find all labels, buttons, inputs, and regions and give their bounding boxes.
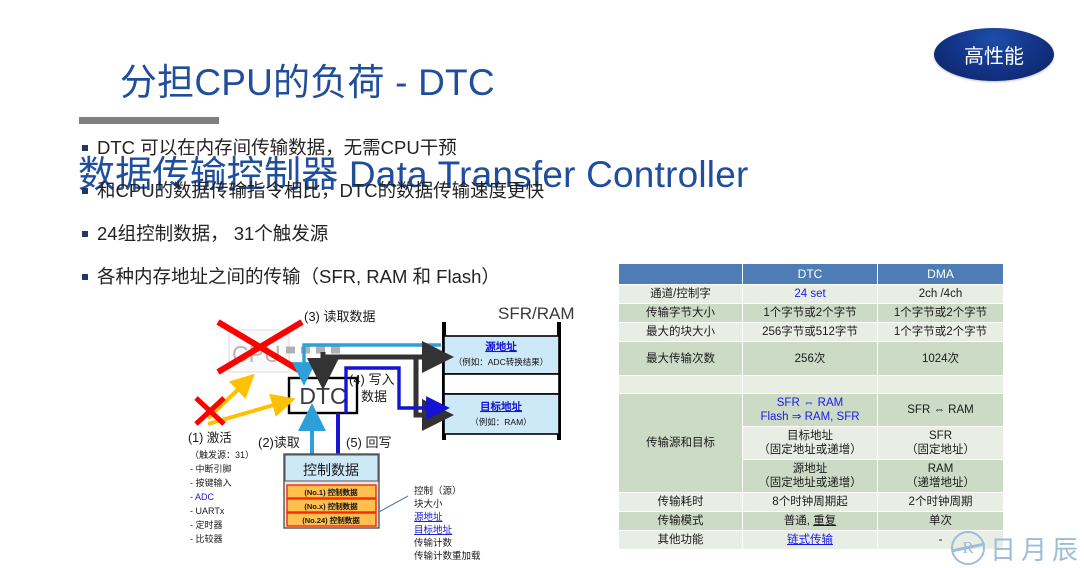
value-line-1: SFR [929,430,952,442]
control-field-item: 块大小 [414,498,443,510]
row-dma-value: 单次 [878,512,1004,531]
row-dma-value: 1个字节或2个字节 [878,323,1004,342]
row-dtc-value: SFR ⇔ RAM Flash ⇒ RAM, SFR [743,394,878,427]
row-dma-value: RAM （递增地址） [878,460,1004,493]
control-field-item: 传输计数 [414,537,453,549]
row-dtc-value: 链式传输 [743,531,878,550]
trigger-source-item: - 中断引脚 [190,463,232,474]
table-row: 通道/控制字 24 set 2ch /4ch [619,285,1004,304]
value-line-1: RAM [928,463,954,475]
control-data-row: (No.x) 控制数据 [304,501,358,511]
value-line-2: （固定地址） [906,444,975,456]
value-line-1: 目标地址 [787,430,833,442]
row-dma-value: 1024次 [878,342,1004,376]
step-4-label-line1: (4) 写入 [349,372,395,387]
row-dtc-value: 1个字节或2个字节 [743,304,878,323]
row-label [619,376,743,394]
value-line-2: （固定地址或递增） [758,444,862,456]
step-3-label: (3) 读取数据 [304,309,376,324]
row-dma-value: SFR ⇔ RAM [878,394,1004,427]
row-dtc-value: 目标地址 （固定地址或递增） [743,427,878,460]
table-header-dma: DMA [878,264,1004,285]
row-label: 传输模式 [619,512,743,531]
step-4-label-line2: 数据 [361,389,387,404]
row-dma-value: 2ch /4ch [878,285,1004,304]
sfr-ram-title: SFR/RAM [498,304,575,323]
list-item: DTC 可以在内存间传输数据，无需CPU干预 [82,136,642,159]
table-row: 传输模式 普通, 重复 单次 [619,512,1004,531]
row-dtc-value: 普通, 重复 [743,512,878,531]
row-label: 最大传输次数 [619,342,743,376]
bullet-text: 和CPU的数据传输指令相比，DTC的数据传输速度更快 [97,179,544,202]
row-label: 传输字节大小 [619,304,743,323]
table-header-blank [619,264,743,285]
repeat-mode-highlight: 重复 [813,515,836,527]
trigger-source-item: - ADC [190,492,215,502]
bullet-text: 24组控制数据， 31个触发源 [97,222,328,245]
value-line-1: SFR ⇔ RAM [777,397,843,409]
list-item: 和CPU的数据传输指令相比，DTC的数据传输速度更快 [82,179,642,202]
row-dma-value: SFR （固定地址） [878,427,1004,460]
list-item: 各种内存地址之间的传输（SFR, RAM 和 Flash） [82,265,642,288]
dtc-dma-comparison-table: DTC DMA 通道/控制字 24 set 2ch /4ch 传输字节大小 1个… [618,263,1004,550]
control-data-row: (No.1) 控制数据 [304,487,358,497]
row-label: 通道/控制字 [619,285,743,304]
row-label: 其他功能 [619,531,743,550]
control-data-row: (No.24) 控制数据 [302,515,360,525]
dtc-label: DTC [299,383,346,409]
title-line-1: 分担CPU的负荷 - DTC [120,62,495,103]
control-field-item: 目标地址 [414,524,453,536]
trigger-source-item: - 定时器 [190,519,223,530]
source-address-label: 源地址 [485,340,517,353]
table-row: 其他功能 链式传输 - [619,531,1004,550]
bullet-square-icon [82,274,88,280]
row-label: 传输耗时 [619,493,743,512]
row-label: 最大的块大小 [619,323,743,342]
row-dtc-value: 源地址 （固定地址或递增） [743,460,878,493]
step-5-label: (5) 回写 [346,435,392,450]
table-row: 传输源和目标 SFR ⇔ RAM Flash ⇒ RAM, SFR SFR ⇔ … [619,394,1004,427]
value-line-2: （固定地址或递增） [758,477,862,489]
dest-address-sub: （例如：RAM） [470,417,531,427]
step-2-label: (2)读取 [258,435,300,450]
table-row: 传输耗时 8个时钟周期起 2个时钟周期 [619,493,1004,512]
row-dtc-value: 256次 [743,342,878,376]
title-divider [79,117,219,124]
table-row: 最大传输次数 256次 1024次 [619,342,1004,376]
row-dtc-value [743,376,878,394]
row-dtc-value: 8个时钟周期起 [743,493,878,512]
table-header-dtc: DTC [743,264,878,285]
bullet-square-icon [82,231,88,237]
table-spacer-row [619,376,1004,394]
trigger-source-item: - UARTx [190,506,225,516]
trigger-source-item: - 按键输入 [190,477,232,488]
row-label-source-dest: 传输源和目标 [619,394,743,493]
row-dma-value [878,376,1004,394]
step-1-label: (1) 激活 [188,431,232,445]
bullet-square-icon [82,145,88,151]
bullet-list: DTC 可以在内存间传输数据，无需CPU干预 和CPU的数据传输指令相比，DTC… [82,136,642,308]
control-field-item: 传输计数重加载 [414,550,481,562]
row-dma-value: 1个字节或2个字节 [878,304,1004,323]
dtc-flow-diagram: SFR/RAM 源地址 （例如：ADC转换结果） 目标地址 （例如：RAM） C… [186,300,586,562]
bullet-text: 各种内存地址之间的传输（SFR, RAM 和 Flash） [97,265,500,288]
trigger-source-header: （触发源：31） [190,449,254,460]
value-line-2: （递增地址） [906,477,975,489]
trigger-source-item: - 比较器 [190,533,223,544]
status-badge: 高性能 [934,28,1054,81]
table-row: 传输字节大小 1个字节或2个字节 1个字节或2个字节 [619,304,1004,323]
control-data-title: 控制数据 [303,462,359,478]
bullet-square-icon [82,188,88,194]
control-field-item: 源地址 [414,511,443,523]
row-dtc-value: 24 set [743,285,878,304]
row-dma-value: 2个时钟周期 [878,493,1004,512]
table-row: 最大的块大小 256字节或512字节 1个字节或2个字节 [619,323,1004,342]
control-field-item: 控制（源） [414,485,462,497]
slide-root: 分担CPU的负荷 - DTC 数据传输控制器 Data Transfer Con… [0,0,1084,567]
dest-address-label: 目标地址 [480,400,522,413]
value-line-2: Flash ⇒ RAM, SFR [760,411,859,423]
row-dtc-value: 256字节或512字节 [743,323,878,342]
row-dma-value: - [878,531,1004,550]
table-header-row: DTC DMA [619,264,1004,285]
value-line-1: 源地址 [793,463,828,475]
source-address-sub: （例如：ADC转换结果） [454,357,548,367]
list-item: 24组控制数据， 31个触发源 [82,222,642,245]
bullet-text: DTC 可以在内存间传输数据，无需CPU干预 [97,136,457,159]
